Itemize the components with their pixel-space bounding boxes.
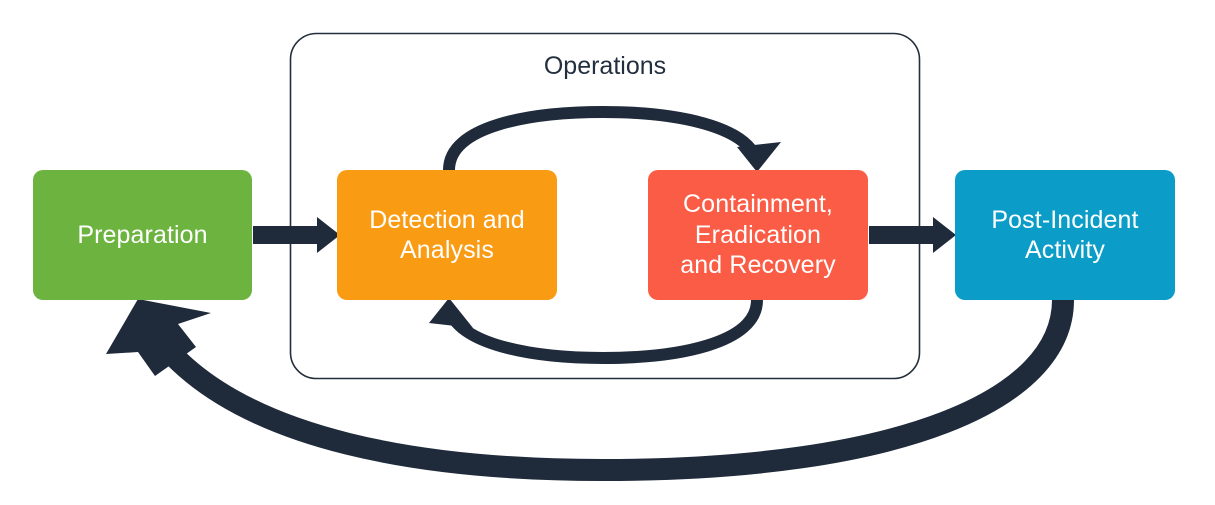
incident-response-lifecycle-diagram: Operations Preparation Detection and Ana… xyxy=(0,0,1215,505)
arrow-preparation-to-detection xyxy=(253,217,340,253)
node-containment-eradication-and-recovery[interactable]: Containment, Eradication and Recovery xyxy=(648,170,868,300)
node-containment-eradication-and-recovery-label: Containment, Eradication and Recovery xyxy=(680,189,835,281)
arrow-containment-to-detection-bottom xyxy=(429,298,757,358)
node-preparation[interactable]: Preparation xyxy=(33,170,252,300)
node-post-incident-activity-label: Post-Incident Activity xyxy=(991,205,1138,266)
node-detection-and-analysis[interactable]: Detection and Analysis xyxy=(337,170,557,300)
node-preparation-label: Preparation xyxy=(77,220,207,251)
arrow-detection-to-containment-top xyxy=(449,112,781,172)
arrow-containment-to-postincident xyxy=(869,217,956,253)
node-post-incident-activity[interactable]: Post-Incident Activity xyxy=(955,170,1175,300)
node-detection-and-analysis-label: Detection and Analysis xyxy=(369,205,525,266)
operations-group-label: Operations xyxy=(290,52,920,81)
